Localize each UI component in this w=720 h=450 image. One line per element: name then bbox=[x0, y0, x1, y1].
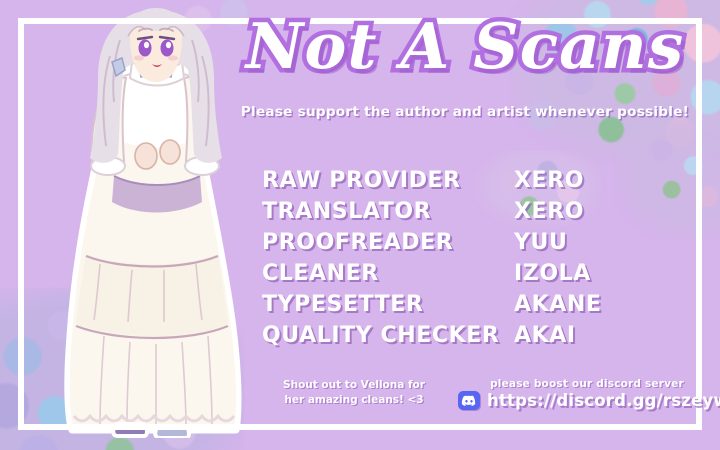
credit-role: TRANSLATOR bbox=[262, 199, 514, 224]
page-title-text: Not A Scans bbox=[230, 6, 700, 86]
credit-person: IZOLA bbox=[514, 261, 591, 286]
credits-list: RAW PROVIDER XERO TRANSLATOR XERO PROOFR… bbox=[262, 168, 662, 354]
discord-url[interactable]: https://discord.gg/rszeywm bbox=[487, 391, 720, 410]
credit-person: XERO bbox=[514, 199, 584, 224]
page-title: Not A Scans Not A Scans bbox=[230, 6, 700, 90]
credit-role: PROOFREADER bbox=[262, 230, 514, 255]
credits-page: Not A Scans Not A Scans Please support t… bbox=[0, 0, 720, 450]
credit-row: TRANSLATOR XERO bbox=[262, 199, 662, 230]
discord-link-row[interactable]: https://discord.gg/rszeywm bbox=[458, 391, 698, 410]
discord-caption: please boost our discord server bbox=[476, 378, 698, 390]
credit-row: QUALITY CHECKER AKAI bbox=[262, 323, 662, 354]
credit-row: TYPESETTER AKANE bbox=[262, 292, 662, 323]
credit-row: RAW PROVIDER XERO bbox=[262, 168, 662, 199]
credit-person: YUU bbox=[514, 230, 567, 255]
credit-role: CLEANER bbox=[262, 261, 514, 286]
credit-role: RAW PROVIDER bbox=[262, 168, 514, 193]
credit-person: AKAI bbox=[514, 323, 576, 348]
support-message: Please support the author and artist whe… bbox=[230, 104, 700, 120]
credit-person: AKANE bbox=[514, 292, 602, 317]
shoutout-note: Shout out to Vellona for her amazing cle… bbox=[264, 378, 444, 408]
credit-role: TYPESETTER bbox=[262, 292, 514, 317]
credit-role: QUALITY CHECKER bbox=[262, 323, 514, 348]
shoutout-line-2: her amazing cleans! <3 bbox=[264, 393, 444, 408]
credit-person: XERO bbox=[514, 168, 584, 193]
discord-block: please boost our discord server https://… bbox=[458, 378, 698, 410]
credit-row: PROOFREADER YUU bbox=[262, 230, 662, 261]
shoutout-line-1: Shout out to Vellona for bbox=[264, 378, 444, 393]
credit-row: CLEANER IZOLA bbox=[262, 261, 662, 292]
discord-icon bbox=[458, 391, 480, 410]
